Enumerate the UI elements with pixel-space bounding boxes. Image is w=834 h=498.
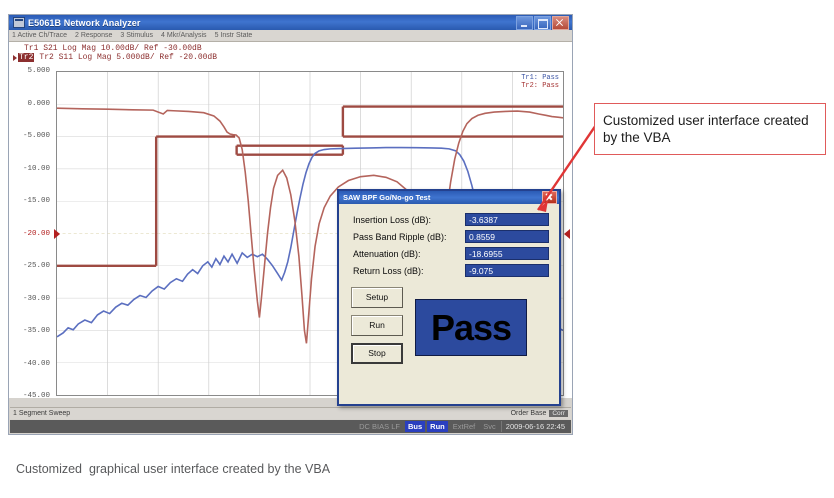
maximize-button[interactable] [534, 16, 551, 30]
reference-marker-right-icon [564, 229, 570, 239]
field-label: Attenuation (dB): [353, 249, 465, 259]
trace-2-text: Tr2 S11 Log Mag 5.000dB/ Ref -20.00dB [39, 53, 217, 62]
setup-button[interactable]: Setup [351, 287, 403, 308]
run-button[interactable]: Run [351, 315, 403, 336]
status-bar-right: Order Base Corr [511, 410, 568, 417]
limit-line [237, 146, 343, 155]
reference-marker-left-icon [54, 229, 60, 239]
status-datetime: 2009-06-16 22:45 [501, 421, 568, 432]
status-bus: Bus [405, 421, 425, 432]
menu-item-stimulus[interactable]: 3 Stimulus [120, 32, 153, 39]
y-axis-tick: -35.00 [23, 327, 50, 335]
menu-item-mkr-analysis[interactable]: 4 Mkr/Analysis [161, 32, 207, 39]
window-controls [516, 16, 570, 30]
status-run: Run [427, 421, 448, 432]
field-attenuation: Attenuation (dB): -18.6955 [339, 245, 559, 262]
dialog-fields: Insertion Loss (dB): -3.6387 Pass Band R… [339, 204, 559, 279]
active-trace-arrow-icon [13, 55, 17, 61]
y-axis-tick: -30.00 [23, 295, 50, 303]
dialog-bottom: Setup Run Stop Pass [339, 279, 559, 364]
y-axis-tick: 0.000 [27, 100, 50, 108]
status-extref: ExtRef [450, 421, 479, 432]
correction-chip: Corr [549, 410, 568, 417]
field-label: Return Loss (dB): [353, 266, 465, 276]
window-title: E5061B Network Analyzer [28, 18, 516, 28]
y-axis-tick: -25.00 [23, 262, 50, 270]
field-pass-band-ripple: Pass Band Ripple (dB): 0.8559 [339, 228, 559, 245]
menu-item-response[interactable]: 2 Response [75, 32, 112, 39]
dialog-close-icon[interactable] [542, 191, 557, 204]
stop-button[interactable]: Stop [351, 343, 403, 364]
y-axis-tick: -15.00 [23, 197, 50, 205]
menu-item-instr-state[interactable]: 5 Instr State [215, 32, 253, 39]
y-axis-tick: -20.00 [23, 230, 50, 238]
window-titlebar[interactable]: E5061B Network Analyzer [9, 15, 572, 30]
field-value[interactable]: -3.6387 [465, 213, 549, 226]
menu-item-active-ch-trace[interactable]: 1 Active Ch/Trace [12, 32, 67, 39]
y-axis-tick: -5.000 [23, 132, 50, 140]
dialog-titlebar[interactable]: SAW BPF Go/No-go Test [339, 191, 559, 204]
dialog-button-group: Setup Run Stop [351, 287, 403, 364]
dialog-title: SAW BPF Go/No-go Test [343, 193, 542, 202]
trace-1-pass-label: Tr1: Pass [521, 74, 559, 82]
app-icon [13, 17, 25, 28]
verdict-text: Pass [431, 310, 511, 346]
trace-2-pass-label: Tr2: Pass [521, 82, 559, 90]
limit-test-results: Tr1: Pass Tr2: Pass [521, 74, 559, 90]
field-value[interactable]: 0.8559 [465, 230, 549, 243]
close-icon[interactable] [552, 16, 569, 30]
field-label: Insertion Loss (dB): [353, 215, 465, 225]
order-base-label: Order Base [511, 410, 547, 417]
callout-box: Customized user interface created by the… [594, 103, 826, 155]
trace-1-text: Tr1 S21 Log Mag 10.00dB/ Ref -30.00dB [24, 44, 202, 53]
field-value[interactable]: -18.6955 [465, 247, 549, 260]
trace-2-badge: Tr2 [18, 53, 34, 62]
y-axis: 5.0000.000-5.000-10.00-15.00-20.00-25.00… [9, 63, 54, 398]
y-axis-tick: -45.00 [23, 392, 50, 400]
y-axis-tick: 5.000 [27, 67, 50, 75]
status-bar-primary: 1 Segment Sweep Order Base Corr [10, 407, 571, 419]
y-axis-tick: -40.00 [23, 360, 50, 368]
menu-bar: 1 Active Ch/Trace 2 Response 3 Stimulus … [9, 30, 572, 42]
field-value[interactable]: -9.075 [465, 264, 549, 277]
field-insertion-loss: Insertion Loss (dB): -3.6387 [339, 211, 559, 228]
sweep-mode-label: 1 Segment Sweep [13, 410, 70, 417]
status-dc-bias-lf: DC BIAS LF [356, 421, 403, 432]
callout-text: Customized user interface created by the… [603, 112, 817, 146]
verdict-indicator: Pass [415, 299, 527, 356]
minimize-button[interactable] [516, 16, 533, 30]
trace-status-panel: Tr1 S21 Log Mag 10.00dB/ Ref -30.00dB Tr… [9, 42, 572, 63]
field-label: Pass Band Ripple (dB): [353, 232, 465, 242]
trace-1-status[interactable]: Tr1 S21 Log Mag 10.00dB/ Ref -30.00dB [19, 44, 572, 53]
status-bar-secondary: DC BIAS LF Bus Run ExtRef Svc 2009-06-16… [10, 420, 571, 433]
trace-2-status[interactable]: Tr2 Tr2 S11 Log Mag 5.000dB/ Ref -20.00d… [19, 53, 572, 62]
y-axis-tick: -10.00 [23, 165, 50, 173]
figure-caption: Customized graphical user interface crea… [16, 462, 330, 476]
vba-dialog: SAW BPF Go/No-go Test Insertion Loss (dB… [337, 189, 561, 406]
field-return-loss: Return Loss (dB): -9.075 [339, 262, 559, 279]
status-svc: Svc [480, 421, 499, 432]
network-analyzer-window: E5061B Network Analyzer 1 Active Ch/Trac… [8, 14, 573, 435]
